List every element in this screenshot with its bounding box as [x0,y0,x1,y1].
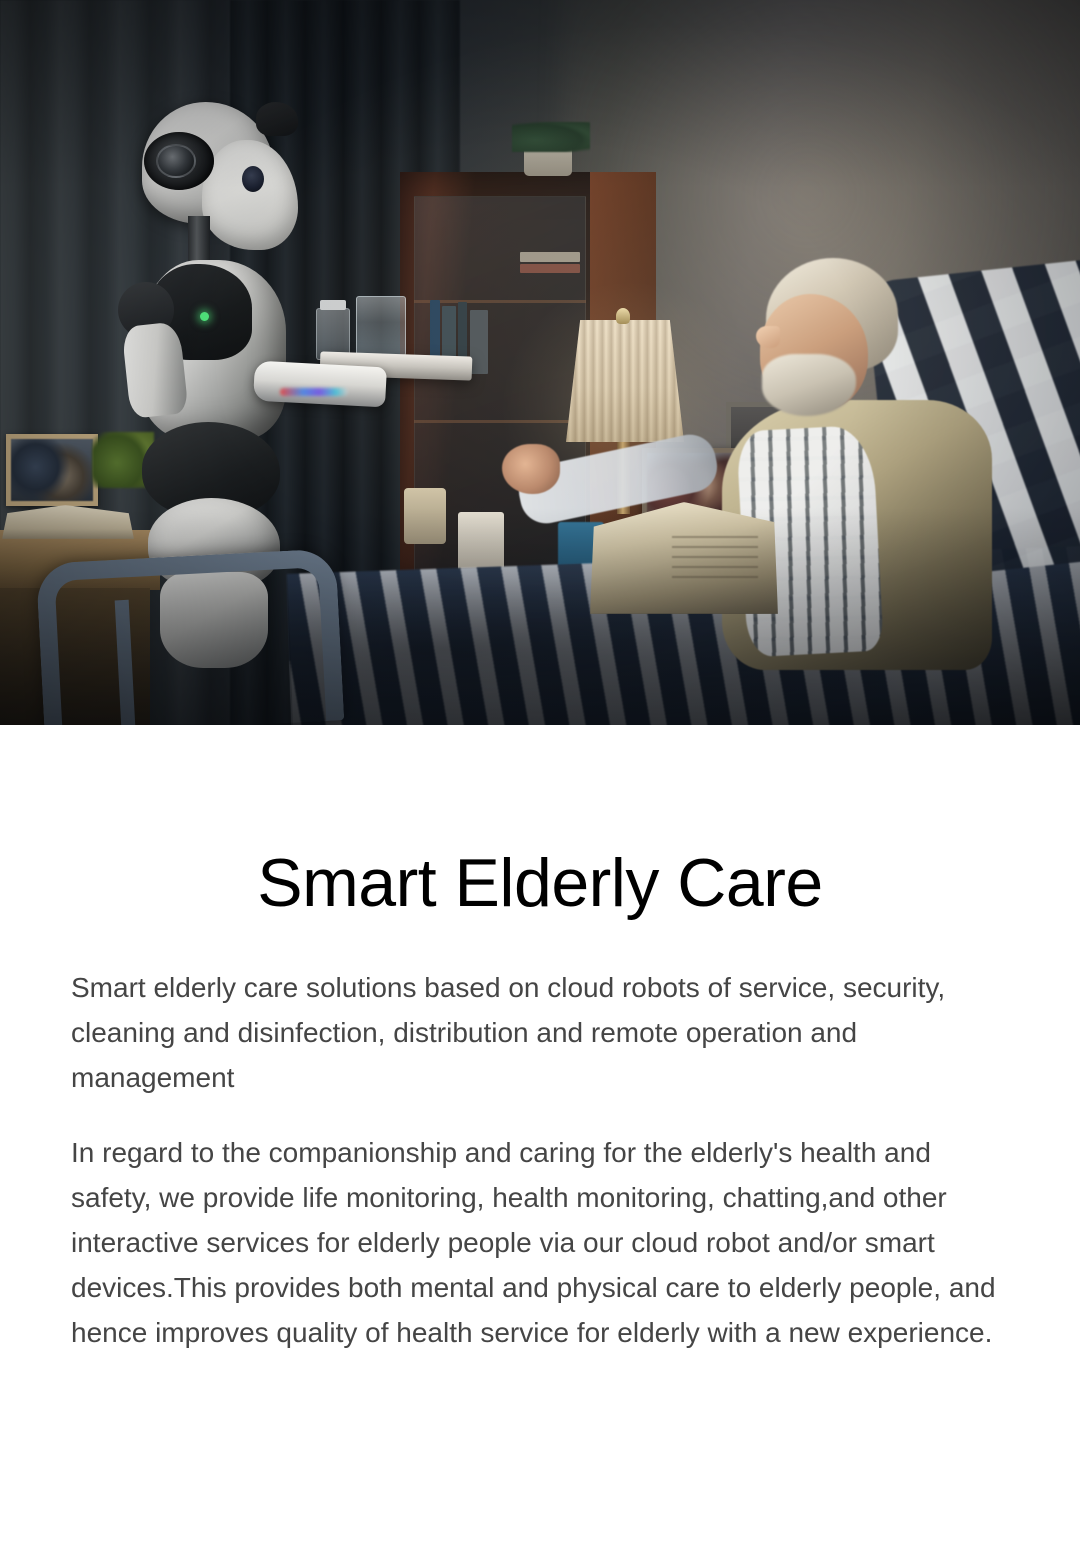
desk-framed-photo [6,434,98,506]
lamp-finial [616,308,630,324]
potted-plant-icon [512,122,590,152]
shelf-book [520,264,580,273]
body-copy: Smart elderly care solutions based on cl… [70,965,1010,1355]
water-bottle-cap [320,300,346,310]
content-section: Smart Elderly Care Smart elderly care so… [0,725,1080,1355]
bed-side-rail [36,548,345,725]
bookcase-shelf [414,420,586,423]
shelf-book [470,310,488,374]
paragraph-intro: Smart elderly care solutions based on cl… [71,965,1009,1100]
nose [756,326,780,348]
book-page-text [672,536,758,584]
page-title: Smart Elderly Care [0,845,1080,921]
robot-camera-lens-icon [156,144,196,178]
robot-face-plate [202,140,298,250]
paragraph-details: In regard to the companionship and carin… [71,1130,1009,1355]
robot-rgb-led-strip-icon [280,388,348,396]
water-glass [356,296,406,358]
robot-ear [256,102,298,136]
page-root: Smart Elderly Care Smart elderly care so… [0,0,1080,1561]
table-lamp [566,320,684,442]
hero-image [0,0,1080,725]
hero-scene [0,0,1080,725]
shelf-book [520,252,580,262]
robot-status-led-icon [200,312,209,321]
robot-forearm [253,361,387,408]
hand [502,444,560,494]
elderly-man [700,250,1080,670]
robot-eye [242,166,264,192]
